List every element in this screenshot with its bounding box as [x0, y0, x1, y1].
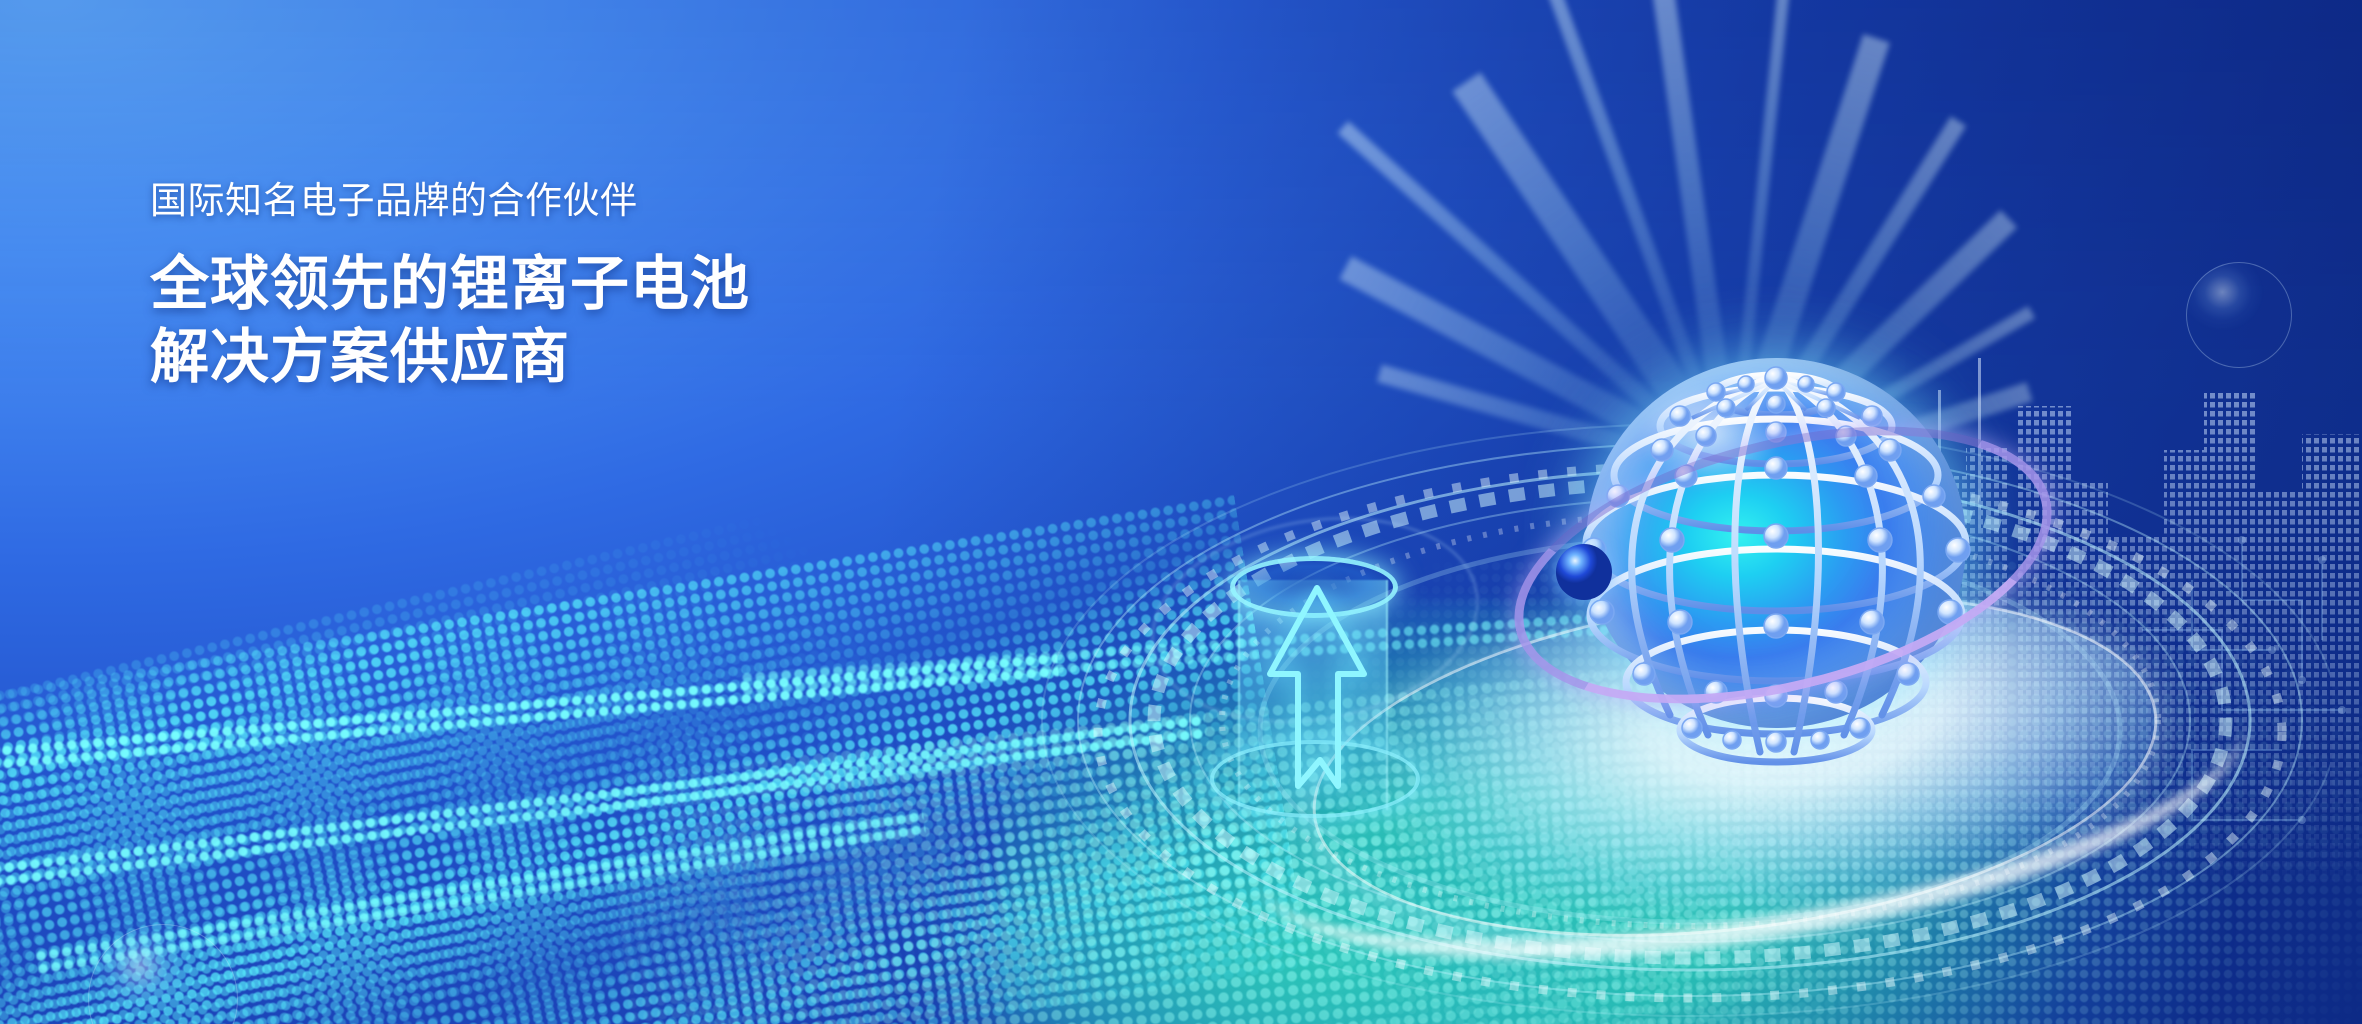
bubble-top-right — [2186, 262, 2292, 368]
banner-headline-line-2: 解决方案供应商 — [150, 321, 1050, 394]
globe-graphic — [1520, 300, 2040, 780]
banner-headline-line-1: 全球领先的锂离子电池 — [150, 248, 1050, 321]
upward-arrow-icon — [1242, 570, 1392, 820]
orbital-ring-node — [1556, 544, 1612, 600]
hero-copy: 国际知名电子品牌的合作伙伴 全球领先的锂离子电池 解决方案供应商 — [150, 178, 1050, 395]
hero-banner: 国际知名电子品牌的合作伙伴 全球领先的锂离子电池 解决方案供应商 — [0, 0, 2362, 1024]
banner-headline: 全球领先的锂离子电池 解决方案供应商 — [150, 248, 1050, 394]
banner-subtitle: 国际知名电子品牌的合作伙伴 — [150, 178, 1050, 224]
